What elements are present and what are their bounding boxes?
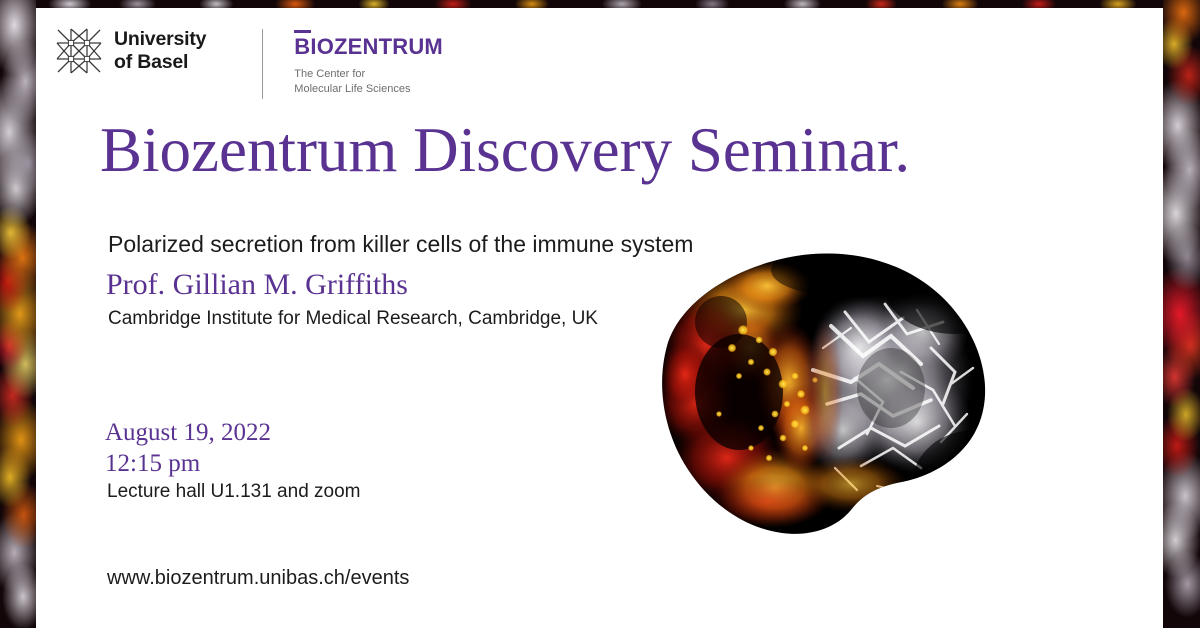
university-of-basel-logo: University of Basel	[56, 28, 206, 74]
event-venue: Lecture hall U1.131 and zoom	[107, 481, 361, 503]
right-microscopy-band	[1163, 0, 1200, 628]
biozentrum-tagline: The Center for Molecular Life Sciences	[294, 67, 443, 97]
top-band-texture	[36, 0, 1163, 8]
seminar-poster: University of Basel BIOZENTRUM The Cente…	[0, 0, 1200, 628]
event-time: 12:15 pm	[105, 450, 200, 478]
right-band-texture	[1163, 0, 1200, 628]
top-microscopy-band	[36, 0, 1163, 8]
biozentrum-accent-bar	[294, 30, 311, 33]
university-of-basel-snowflake-mark	[56, 28, 102, 74]
immune-cell-microscopy-blob-svg	[655, 252, 990, 537]
logo-divider	[262, 29, 263, 99]
biozentrum-logo: BIOZENTRUM The Center for Molecular Life…	[294, 28, 443, 97]
university-name-line1: University	[114, 28, 206, 51]
speaker-name: Prof. Gillian M. Griffiths	[106, 268, 408, 302]
immune-cell-microscopy-blob	[655, 252, 990, 537]
speaker-affiliation: Cambridge Institute for Medical Research…	[108, 308, 598, 330]
biozentrum-wordmark: BIOZENTRUM	[294, 36, 443, 58]
website-url: www.biozentrum.unibas.ch/events	[107, 567, 409, 590]
page-title: Biozentrum Discovery Seminar.	[100, 119, 910, 182]
university-name-line2: of Basel	[114, 51, 206, 74]
left-band-texture	[0, 0, 36, 628]
talk-title: Polarized secretion from killer cells of…	[108, 231, 693, 258]
university-name: University of Basel	[114, 28, 206, 74]
logo-header: University of Basel BIOZENTRUM The Cente…	[56, 28, 443, 99]
left-microscopy-band	[0, 0, 36, 628]
event-date: August 19, 2022	[105, 419, 271, 447]
